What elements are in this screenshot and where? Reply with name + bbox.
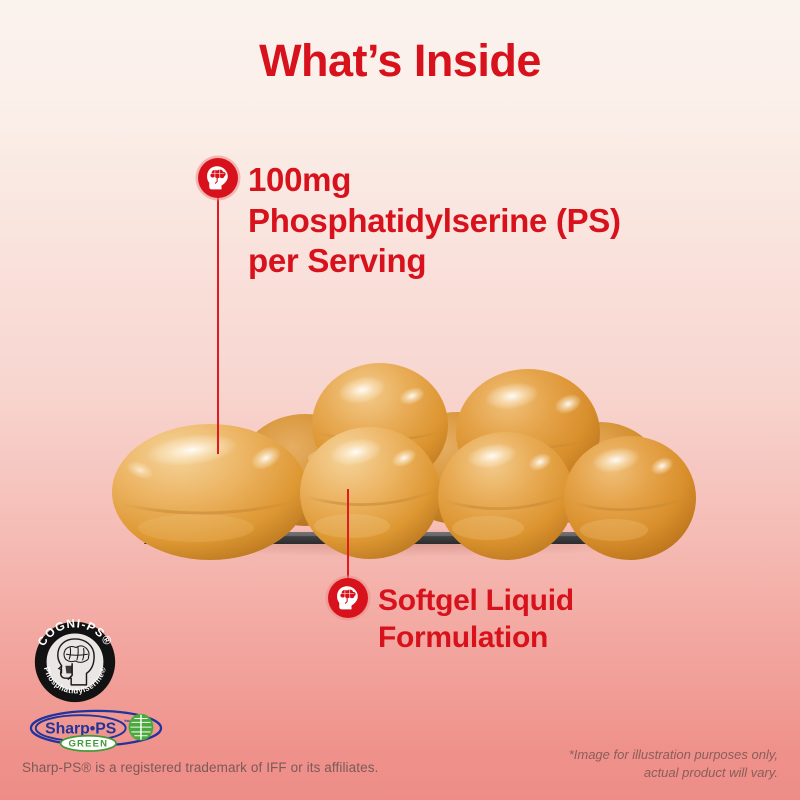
callout-line: Formulation <box>378 620 778 657</box>
sharp-ps-green-logo: Sharp•PS ™ GREEN <box>28 708 164 752</box>
callout-text-formulation: Softgel Liquid Formulation <box>378 583 778 657</box>
brain-head-icon-badge-formulation <box>328 578 368 618</box>
sharp-ps-wordmark: Sharp•PS <box>45 720 116 737</box>
callout-text-dosage: 100mg Phosphatidylserine (PS) per Servin… <box>248 160 718 282</box>
cogni-ps-logo: COGNI-PS® Phosphatidylserine® <box>27 616 123 704</box>
product-disclaimer: *Image for illustration purposes only, a… <box>458 746 778 783</box>
product-image <box>100 300 700 560</box>
brain-head-icon <box>204 164 232 192</box>
page-title: What’s Inside <box>0 36 800 86</box>
callout-line: Phosphatidylserine (PS) <box>248 201 718 242</box>
brain-head-icon <box>334 584 362 612</box>
green-banner: GREEN <box>61 736 116 751</box>
disclaimer-line: *Image for illustration purposes only, <box>458 746 778 764</box>
callout-leader-line-dosage <box>217 196 219 454</box>
disclaimer-line: actual product will vary. <box>458 764 778 782</box>
infographic-canvas: What’s Inside <box>0 0 800 800</box>
trademark-note: Sharp-PS® is a registered trademark of I… <box>22 760 378 775</box>
brain-head-icon-badge-dosage <box>198 158 238 198</box>
green-leaf-icon <box>129 714 154 741</box>
callout-line: Softgel Liquid <box>378 583 778 620</box>
callout-line: per Serving <box>248 241 718 282</box>
svg-text:GREEN: GREEN <box>68 739 108 750</box>
callout-line: 100mg <box>248 160 718 201</box>
